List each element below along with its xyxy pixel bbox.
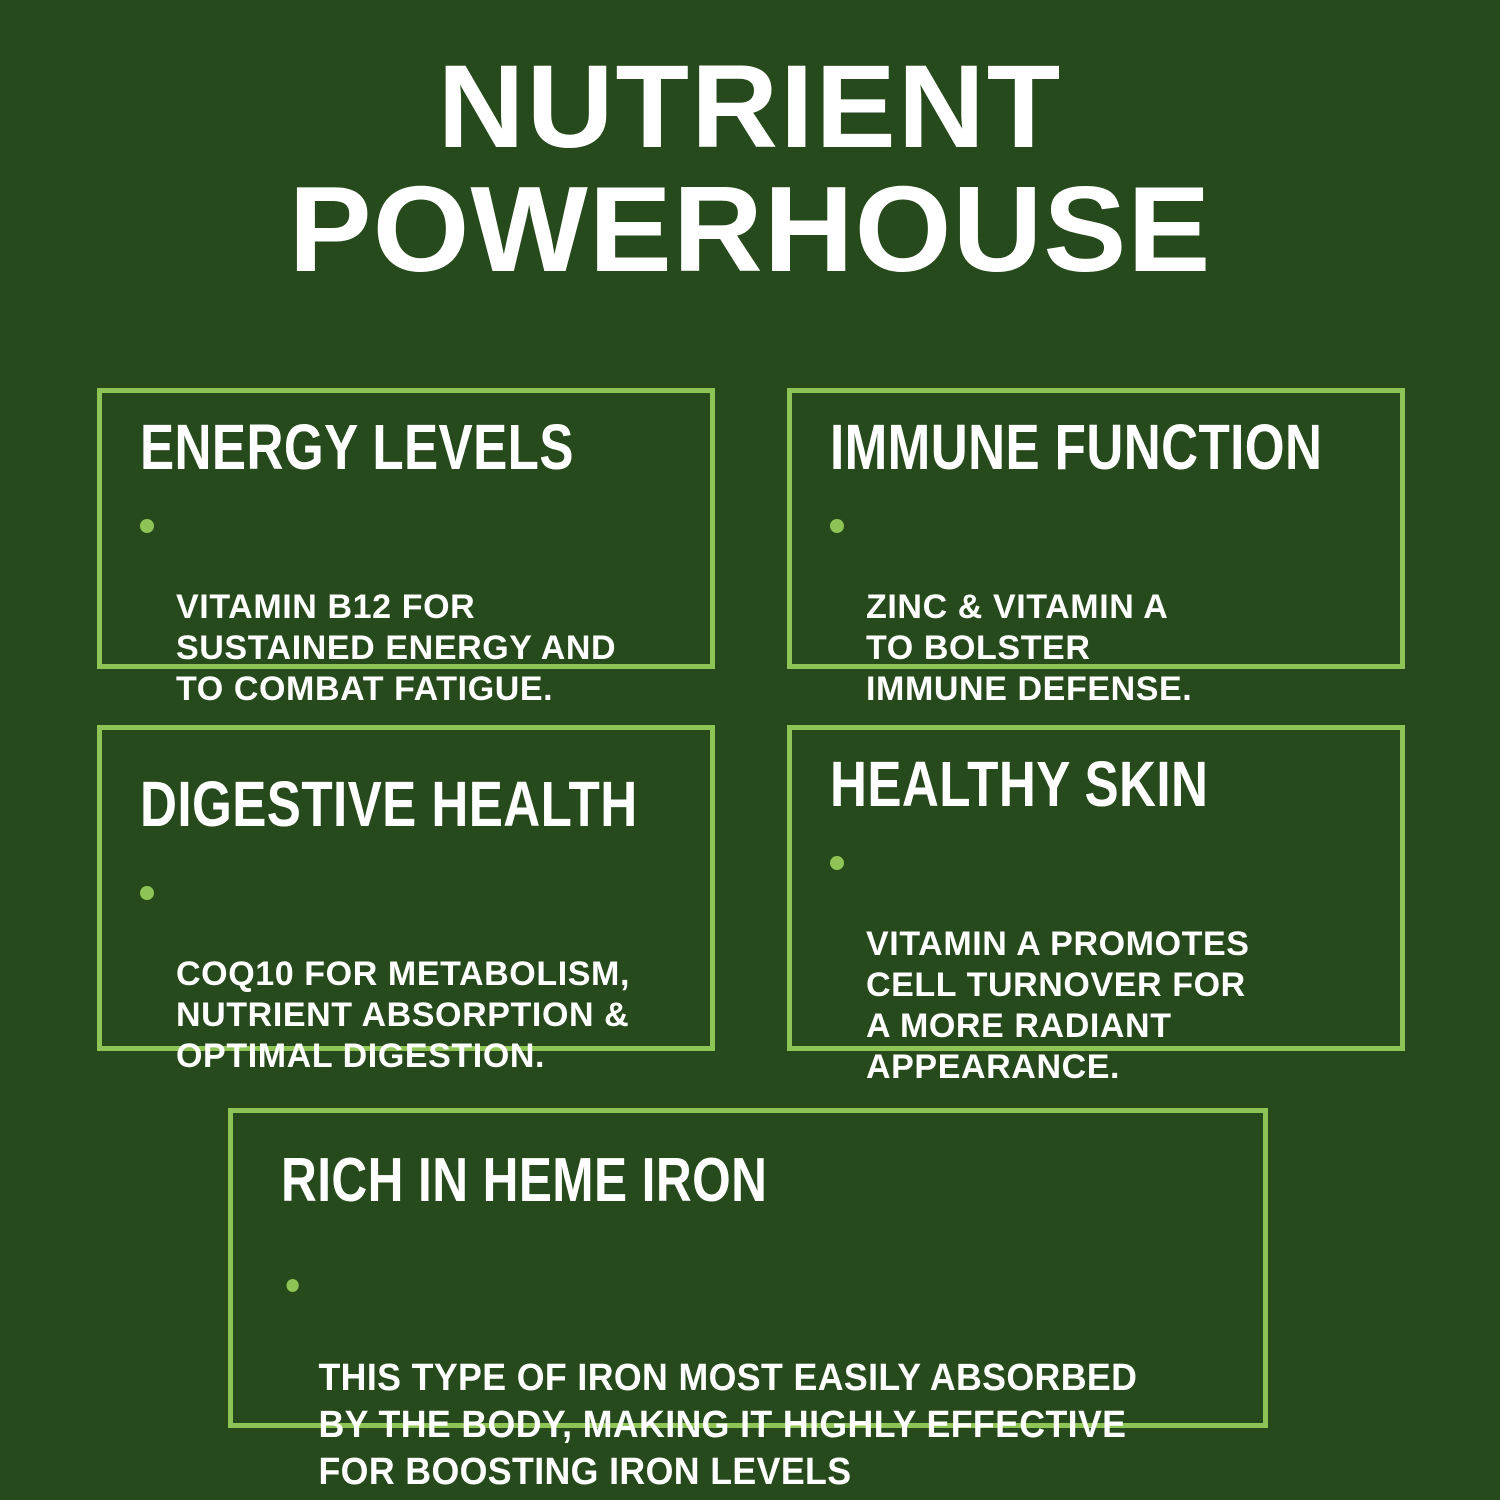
- list-item-text: THIS TYPE OF IRON MOST EASILY ABSORBED B…: [318, 1357, 1137, 1493]
- benefit-card-rich-in-heme-iron: RICH IN HEME IRON THIS TYPE OF IRON MOST…: [228, 1108, 1268, 1428]
- card-content: DIGESTIVE HEALTH COQ10 FOR METABOLISM, N…: [102, 730, 710, 1046]
- card-content: ENERGY LEVELS VITAMIN B12 FOR SUSTAINED …: [102, 393, 710, 664]
- benefit-card-digestive-health: DIGESTIVE HEALTH COQ10 FOR METABOLISM, N…: [97, 725, 715, 1051]
- list-item-text: COQ10 FOR METABOLISM, NUTRIENT ABSORPTIO…: [176, 955, 630, 1075]
- list-item-text: VITAMIN B12 FOR SUSTAINED ENERGY AND TO …: [176, 588, 616, 708]
- list-item: THIS TYPE OF IRON MOST EASILY ABSORBED B…: [279, 1261, 1137, 1496]
- card-heading: IMMUNE FUNCTION: [830, 415, 1322, 479]
- bullet-dot-icon: [830, 519, 844, 533]
- card-heading: ENERGY LEVELS: [140, 415, 574, 479]
- bullet-dot-icon: [140, 519, 154, 533]
- card-content: RICH IN HEME IRON THIS TYPE OF IRON MOST…: [233, 1113, 1263, 1423]
- list-item: ZINC & VITAMIN A TO BOLSTER IMMUNE DEFEN…: [824, 505, 1192, 710]
- card-heading: HEALTHY SKIN: [830, 752, 1208, 816]
- list-item-text: VITAMIN A PROMOTES CELL TURNOVER FOR A M…: [866, 925, 1250, 1086]
- card-bullet-list: VITAMIN B12 FOR SUSTAINED ENERGY AND TO …: [134, 505, 616, 710]
- page-title-line-2: POWERHOUSE: [0, 168, 1500, 290]
- card-bullet-list: THIS TYPE OF IRON MOST EASILY ABSORBED B…: [279, 1261, 1192, 1496]
- card-bullet-list: COQ10 FOR METABOLISM, NUTRIENT ABSORPTIO…: [134, 872, 630, 1077]
- card-heading: RICH IN HEME IRON: [281, 1149, 767, 1213]
- list-item: VITAMIN A PROMOTES CELL TURNOVER FOR A M…: [824, 842, 1250, 1088]
- benefit-card-healthy-skin: HEALTHY SKIN VITAMIN A PROMOTES CELL TUR…: [787, 725, 1405, 1051]
- benefit-card-energy-levels: ENERGY LEVELS VITAMIN B12 FOR SUSTAINED …: [97, 388, 715, 669]
- list-item: COQ10 FOR METABOLISM, NUTRIENT ABSORPTIO…: [134, 872, 630, 1077]
- list-item-text: ZINC & VITAMIN A TO BOLSTER IMMUNE DEFEN…: [866, 588, 1192, 708]
- bullet-dot-icon: [287, 1279, 299, 1292]
- page-title-line-1: NUTRIENT: [0, 46, 1500, 168]
- card-content: IMMUNE FUNCTION ZINC & VITAMIN A TO BOLS…: [792, 393, 1400, 664]
- bullet-dot-icon: [830, 856, 844, 870]
- card-content: HEALTHY SKIN VITAMIN A PROMOTES CELL TUR…: [792, 730, 1400, 1046]
- list-item: VITAMIN B12 FOR SUSTAINED ENERGY AND TO …: [134, 505, 616, 710]
- benefit-card-immune-function: IMMUNE FUNCTION ZINC & VITAMIN A TO BOLS…: [787, 388, 1405, 669]
- card-heading: DIGESTIVE HEALTH: [140, 772, 638, 836]
- card-bullet-list: ZINC & VITAMIN A TO BOLSTER IMMUNE DEFEN…: [824, 505, 1192, 710]
- bullet-dot-icon: [140, 886, 154, 900]
- page-title: NUTRIENT POWERHOUSE: [0, 46, 1500, 290]
- card-bullet-list: VITAMIN A PROMOTES CELL TURNOVER FOR A M…: [824, 842, 1250, 1088]
